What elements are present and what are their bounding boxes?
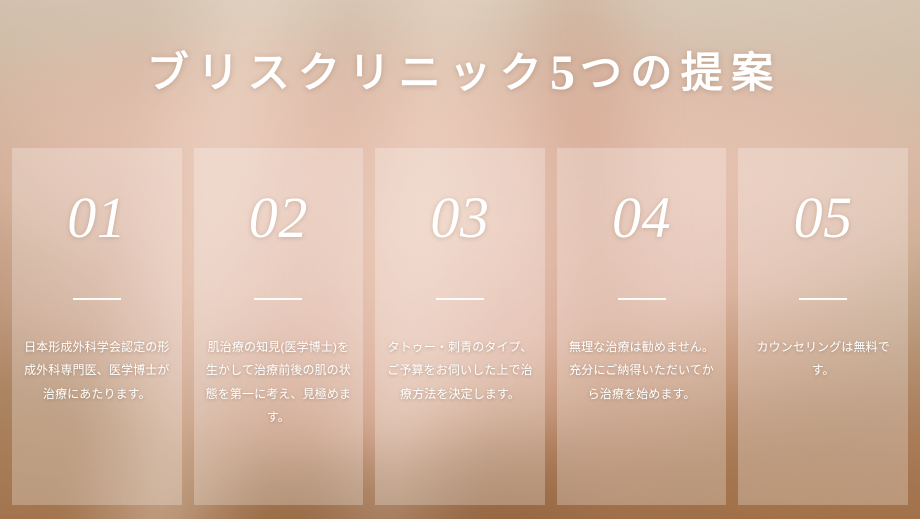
page-title-suffix: つの提案: [580, 51, 782, 97]
card-divider: [73, 298, 121, 300]
card-number: 02: [249, 189, 308, 247]
card-divider: [799, 298, 847, 300]
card-number: 05: [794, 189, 853, 247]
card-description: 無理な治療は勧めません。充分にご納得いただいてから治療を始めます。: [566, 336, 718, 406]
proposal-card-05[interactable]: 05 カウンセリングは無料です。: [738, 148, 908, 505]
page-title: ブリスクリニック5つの提案: [0, 44, 920, 102]
card-divider: [436, 298, 484, 300]
card-description: カウンセリングは無料です。: [747, 336, 899, 383]
card-description: 肌治療の知見(医学博士)を生かして治療前後の肌の状態を第一に考え、見極めます。: [202, 336, 354, 430]
card-number: 04: [612, 189, 671, 247]
card-number: 01: [67, 189, 126, 247]
proposal-card-03[interactable]: 03 タトゥー・刺青のタイプ、ご予算をお伺いした上で治療方法を決定します。: [375, 148, 545, 505]
proposal-card-04[interactable]: 04 無理な治療は勧めません。充分にご納得いただいてから治療を始めます。: [557, 148, 727, 505]
card-number: 03: [430, 189, 489, 247]
card-divider: [618, 298, 666, 300]
card-description: タトゥー・刺青のタイプ、ご予算をお伺いした上で治療方法を決定します。: [384, 336, 536, 406]
hero-section: ブリスクリニック5つの提案 01 日本形成外科学会認定の形成外科専門医、医学博士…: [0, 0, 920, 519]
card-description: 日本形成外科学会認定の形成外科専門医、医学博士が治療にあたります。: [21, 336, 173, 406]
page-title-number: 5: [550, 44, 580, 100]
card-divider: [254, 298, 302, 300]
proposal-card-list: 01 日本形成外科学会認定の形成外科専門医、医学博士が治療にあたります。 02 …: [12, 148, 908, 505]
proposal-card-02[interactable]: 02 肌治療の知見(医学博士)を生かして治療前後の肌の状態を第一に考え、見極めま…: [194, 148, 364, 505]
proposal-card-01[interactable]: 01 日本形成外科学会認定の形成外科専門医、医学博士が治療にあたります。: [12, 148, 182, 505]
page-title-prefix: ブリスクリニック: [147, 51, 550, 97]
